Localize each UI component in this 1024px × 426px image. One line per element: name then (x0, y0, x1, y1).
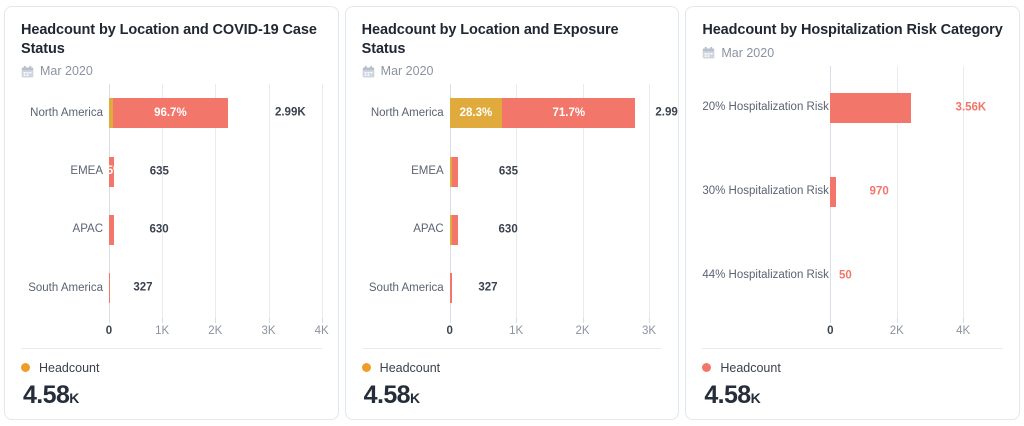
legend-label: Headcount (720, 361, 780, 375)
total-metric: 4.58K (702, 382, 1003, 410)
bar-segment[interactable]: 96.7% (113, 98, 228, 128)
legend-dot-icon (702, 363, 711, 372)
calendar-icon (702, 46, 715, 59)
chart-card-covid-case-status[interactable]: Headcount by Location and COVID-19 Case … (4, 6, 339, 420)
axis-tick-label: 1K (155, 318, 169, 338)
bar-segment[interactable] (452, 157, 458, 187)
bar-rows: 20% Hospitalization Risk3.56K30% Hospita… (830, 66, 1003, 318)
axis-tick-label: 2K (890, 318, 904, 338)
axis-tick-label: 0 (446, 318, 452, 338)
plot-area: North America28.3%71.7%2.99KEMEA635APAC6… (450, 84, 663, 317)
axis-tick-label: 2K (576, 318, 590, 338)
card-title: Headcount by Hospitalization Risk Catego… (702, 21, 1003, 40)
bar-total-label: 327 (133, 283, 152, 295)
bar-row[interactable]: 44% Hospitalization Risk50 (830, 261, 1003, 291)
bar-segment-label: 28.3% (460, 108, 493, 120)
metric-unit: K (751, 390, 761, 406)
bar[interactable]: 28.3%71.7% (450, 98, 649, 128)
bar-segment-label: 96.7% (154, 108, 187, 120)
plot-area: North America96.7%2.99KEMEA95%635APAC630… (109, 84, 322, 317)
metric-unit: K (69, 390, 79, 406)
bar-row[interactable]: EMEA635 (450, 157, 663, 187)
category-label: 44% Hospitalization Risk (702, 270, 824, 282)
dashboard: Headcount by Location and COVID-19 Case … (0, 0, 1024, 426)
bar[interactable] (450, 157, 492, 187)
axis-tick-label: 4K (956, 318, 970, 338)
axis-tick-label: 0 (827, 318, 833, 338)
card-subtitle-date: Mar 2020 (381, 64, 434, 78)
category-label: North America (21, 108, 103, 120)
bar-rows: North America28.3%71.7%2.99KEMEA635APAC6… (450, 84, 663, 317)
category-label: 30% Hospitalization Risk (702, 186, 824, 198)
bar[interactable]: 96.7% (109, 98, 268, 128)
bar-row[interactable]: North America96.7%2.99K (109, 98, 322, 128)
bar[interactable] (450, 273, 472, 303)
metric-value: 4.58 (364, 381, 410, 409)
bar-row[interactable]: North America28.3%71.7%2.99K (450, 98, 663, 128)
bar[interactable] (830, 177, 862, 207)
bar-rows: North America96.7%2.99KEMEA95%635APAC630… (109, 84, 322, 317)
bar-segment[interactable]: 95% (109, 157, 114, 187)
bar[interactable] (109, 273, 126, 303)
bar[interactable]: 95% (109, 157, 143, 187)
bar-row[interactable]: 20% Hospitalization Risk3.56K (830, 93, 1003, 123)
bar-total-label: 327 (478, 283, 497, 295)
axis-tick-label: 2K (208, 318, 222, 338)
bar-segment[interactable]: 71.7% (502, 98, 635, 128)
bar-segment-label: 95% (109, 166, 114, 178)
total-metric: 4.58K (21, 382, 322, 410)
card-subtitle-date: Mar 2020 (40, 64, 93, 78)
legend-label: Headcount (39, 361, 99, 375)
bar[interactable] (830, 93, 948, 123)
bar-segment-label: 71.7% (552, 108, 585, 120)
category-label: APAC (362, 224, 444, 236)
x-axis: 01K2K3K4K (109, 318, 322, 344)
category-label: North America (362, 108, 444, 120)
chart-card-exposure-status[interactable]: Headcount by Location and Exposure Statu… (345, 6, 680, 420)
legend-dot-icon (362, 363, 371, 372)
x-axis: 01K2K3K (450, 318, 663, 344)
bar-segment[interactable] (452, 215, 458, 245)
bar-row[interactable]: EMEA95%635 (109, 157, 322, 187)
bar-total-label: 635 (150, 166, 169, 178)
card-footer: Headcount 4.58K (702, 349, 1003, 410)
card-date-row: Mar 2020 (362, 64, 663, 78)
card-title: Headcount by Location and Exposure Statu… (362, 21, 663, 58)
axis-tick-label: 3K (261, 318, 275, 338)
category-label: 20% Hospitalization Risk (702, 102, 824, 114)
bar-segment[interactable] (830, 93, 911, 123)
bar[interactable] (830, 261, 832, 291)
x-axis: 02K4K (830, 318, 1003, 344)
axis-tick-label: 4K (315, 318, 329, 338)
chart-card-hospitalization-risk[interactable]: Headcount by Hospitalization Risk Catego… (685, 6, 1020, 420)
bar-row[interactable]: South America327 (450, 273, 663, 303)
card-subtitle-date: Mar 2020 (721, 46, 774, 60)
bar-segment[interactable]: 28.3% (450, 98, 503, 128)
legend-dot-icon (21, 363, 30, 372)
bar-total-label: 2.99K (275, 108, 306, 120)
bar-segment[interactable] (109, 215, 114, 245)
plot-area: 20% Hospitalization Risk3.56K30% Hospita… (830, 66, 1003, 318)
bar-segment[interactable] (109, 273, 110, 303)
legend[interactable]: Headcount (362, 361, 663, 375)
bar-row[interactable]: APAC630 (450, 215, 663, 245)
bar[interactable] (450, 215, 492, 245)
metric-unit: K (410, 390, 420, 406)
card-footer: Headcount 4.58K (21, 349, 322, 410)
bar-total-label: 970 (870, 186, 889, 198)
bar-chart[interactable]: North America28.3%71.7%2.99KEMEA635APAC6… (362, 84, 663, 343)
bar-total-label: 630 (499, 224, 518, 236)
category-label: APAC (21, 224, 103, 236)
category-label: South America (21, 283, 103, 295)
category-label: EMEA (21, 166, 103, 178)
legend-label: Headcount (380, 361, 440, 375)
legend[interactable]: Headcount (21, 361, 322, 375)
bar-total-label: 635 (499, 166, 518, 178)
bar-total-label: 630 (149, 224, 168, 236)
bar-total-label: 2.99K (655, 108, 679, 120)
card-title: Headcount by Location and COVID-19 Case … (21, 21, 322, 58)
total-metric: 4.58K (362, 382, 663, 410)
category-label: South America (362, 283, 444, 295)
axis-tick-label: 3K (642, 318, 656, 338)
bar-total-label: 50 (839, 270, 852, 282)
bar-row[interactable]: 30% Hospitalization Risk970 (830, 177, 1003, 207)
metric-value: 4.58 (704, 381, 750, 409)
bar-chart[interactable]: North America96.7%2.99KEMEA95%635APAC630… (21, 84, 322, 343)
bar-total-label: 3.56K (956, 102, 987, 114)
bar-row[interactable]: South America327 (109, 273, 322, 303)
calendar-icon (21, 65, 34, 78)
bar-segment[interactable] (450, 273, 451, 303)
legend[interactable]: Headcount (702, 361, 1003, 375)
bar-chart[interactable]: 20% Hospitalization Risk3.56K30% Hospita… (702, 66, 1003, 344)
calendar-icon (362, 65, 375, 78)
card-date-row: Mar 2020 (21, 64, 322, 78)
gridline (322, 84, 323, 317)
card-date-row: Mar 2020 (702, 46, 1003, 60)
bar-segment[interactable] (830, 177, 836, 207)
axis-tick-label: 0 (106, 318, 112, 338)
axis-tick-label: 1K (509, 318, 523, 338)
card-footer: Headcount 4.58K (362, 349, 663, 410)
bar[interactable] (109, 215, 142, 245)
metric-value: 4.58 (23, 381, 69, 409)
category-label: EMEA (362, 166, 444, 178)
bar-row[interactable]: APAC630 (109, 215, 322, 245)
